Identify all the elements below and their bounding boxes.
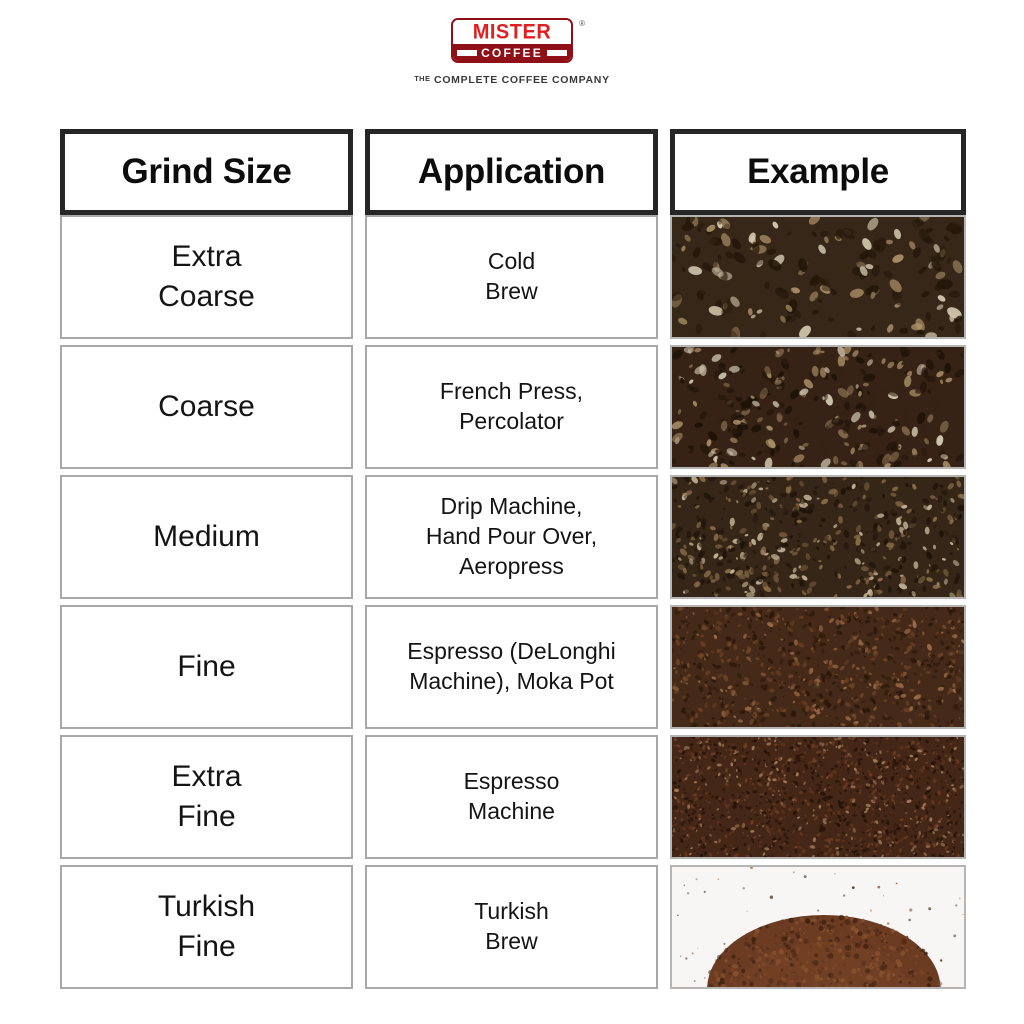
- application-label: Espresso (DeLonghiMachine), Moka Pot: [407, 637, 615, 697]
- medium-coffee-grounds-texture: [672, 477, 964, 597]
- cell-grind-size: ExtraCoarse: [60, 215, 353, 339]
- cell-application: ColdBrew: [365, 215, 658, 339]
- brand-tagline: THE COMPLETE COFFEE COMPANY: [414, 74, 610, 86]
- cell-example: [670, 865, 966, 989]
- fine-coffee-grounds-texture: [672, 607, 964, 727]
- cell-grind-size: Coarse: [60, 345, 353, 469]
- logo-top-band: MISTER: [453, 20, 571, 44]
- cell-application: Drip Machine,Hand Pour Over,Aeropress: [365, 475, 658, 599]
- table-row: CoarseFrench Press,Percolator: [60, 345, 966, 469]
- cell-example: [670, 735, 966, 859]
- cell-example: [670, 345, 966, 469]
- application-label: French Press,Percolator: [440, 377, 583, 437]
- table-row: ExtraCoarseColdBrew: [60, 215, 966, 339]
- application-label: ColdBrew: [485, 247, 537, 307]
- logo-bottom-band: COFFEE: [453, 44, 571, 61]
- logo-bar-right-icon: [547, 49, 567, 57]
- grind-size-label: Medium: [153, 517, 260, 557]
- extra-coarse-coffee-grounds-texture: [672, 217, 964, 337]
- table-row: MediumDrip Machine,Hand Pour Over,Aeropr…: [60, 475, 966, 599]
- application-label: TurkishBrew: [474, 897, 549, 957]
- header-label-application: Application: [418, 154, 605, 191]
- logo-badge: MISTER COFFEE: [451, 18, 573, 63]
- grind-size-label: Coarse: [158, 387, 255, 427]
- brand-tagline-text: COMPLETE COFFEE COMPANY: [434, 74, 610, 86]
- grind-size-label: ExtraCoarse: [158, 237, 255, 317]
- table-row: ExtraFineEspressoMachine: [60, 735, 966, 859]
- cell-grind-size: Fine: [60, 605, 353, 729]
- logo: MISTER COFFEE ®: [451, 18, 573, 63]
- table-row: TurkishFineTurkishBrew: [60, 865, 966, 989]
- extra-fine-coffee-grounds-texture: [672, 737, 964, 857]
- table-body: ExtraCoarseColdBrewCoarseFrench Press,Pe…: [60, 215, 966, 989]
- header-cell-example: Example: [670, 129, 966, 215]
- brand-tagline-prefix: THE: [414, 74, 430, 83]
- header-label-grind-size: Grind Size: [121, 154, 291, 191]
- application-label: Drip Machine,Hand Pour Over,Aeropress: [426, 492, 597, 582]
- cell-grind-size: Medium: [60, 475, 353, 599]
- cell-application: Espresso (DeLonghiMachine), Moka Pot: [365, 605, 658, 729]
- cell-example: [670, 605, 966, 729]
- header-cell-application: Application: [365, 129, 658, 215]
- grind-size-table: Grind Size Application Example ExtraCoar…: [60, 129, 966, 989]
- cell-example: [670, 475, 966, 599]
- cell-grind-size: ExtraFine: [60, 735, 353, 859]
- cell-application: TurkishBrew: [365, 865, 658, 989]
- header-label-example: Example: [747, 154, 889, 191]
- cell-example: [670, 215, 966, 339]
- cell-application: French Press,Percolator: [365, 345, 658, 469]
- logo-primary-text: MISTER: [473, 22, 552, 43]
- grind-size-label: TurkishFine: [158, 887, 255, 967]
- table-header-row: Grind Size Application Example: [60, 129, 966, 215]
- registered-trademark-icon: ®: [579, 19, 585, 28]
- coarse-coffee-grounds-texture: [672, 347, 964, 467]
- brand-header: MISTER COFFEE ® THE COMPLETE COFFEE COMP…: [0, 0, 1024, 86]
- logo-bar-left-icon: [457, 49, 477, 57]
- logo-secondary-text: COFFEE: [481, 47, 543, 59]
- application-label: EspressoMachine: [464, 767, 560, 827]
- table-row: FineEspresso (DeLonghiMachine), Moka Pot: [60, 605, 966, 729]
- grind-size-label: Fine: [177, 647, 235, 687]
- grind-size-label: ExtraFine: [171, 757, 241, 837]
- turkish-fine-coffee-powder-mound-on-white: [672, 867, 964, 987]
- cell-application: EspressoMachine: [365, 735, 658, 859]
- cell-grind-size: TurkishFine: [60, 865, 353, 989]
- header-cell-grind-size: Grind Size: [60, 129, 353, 215]
